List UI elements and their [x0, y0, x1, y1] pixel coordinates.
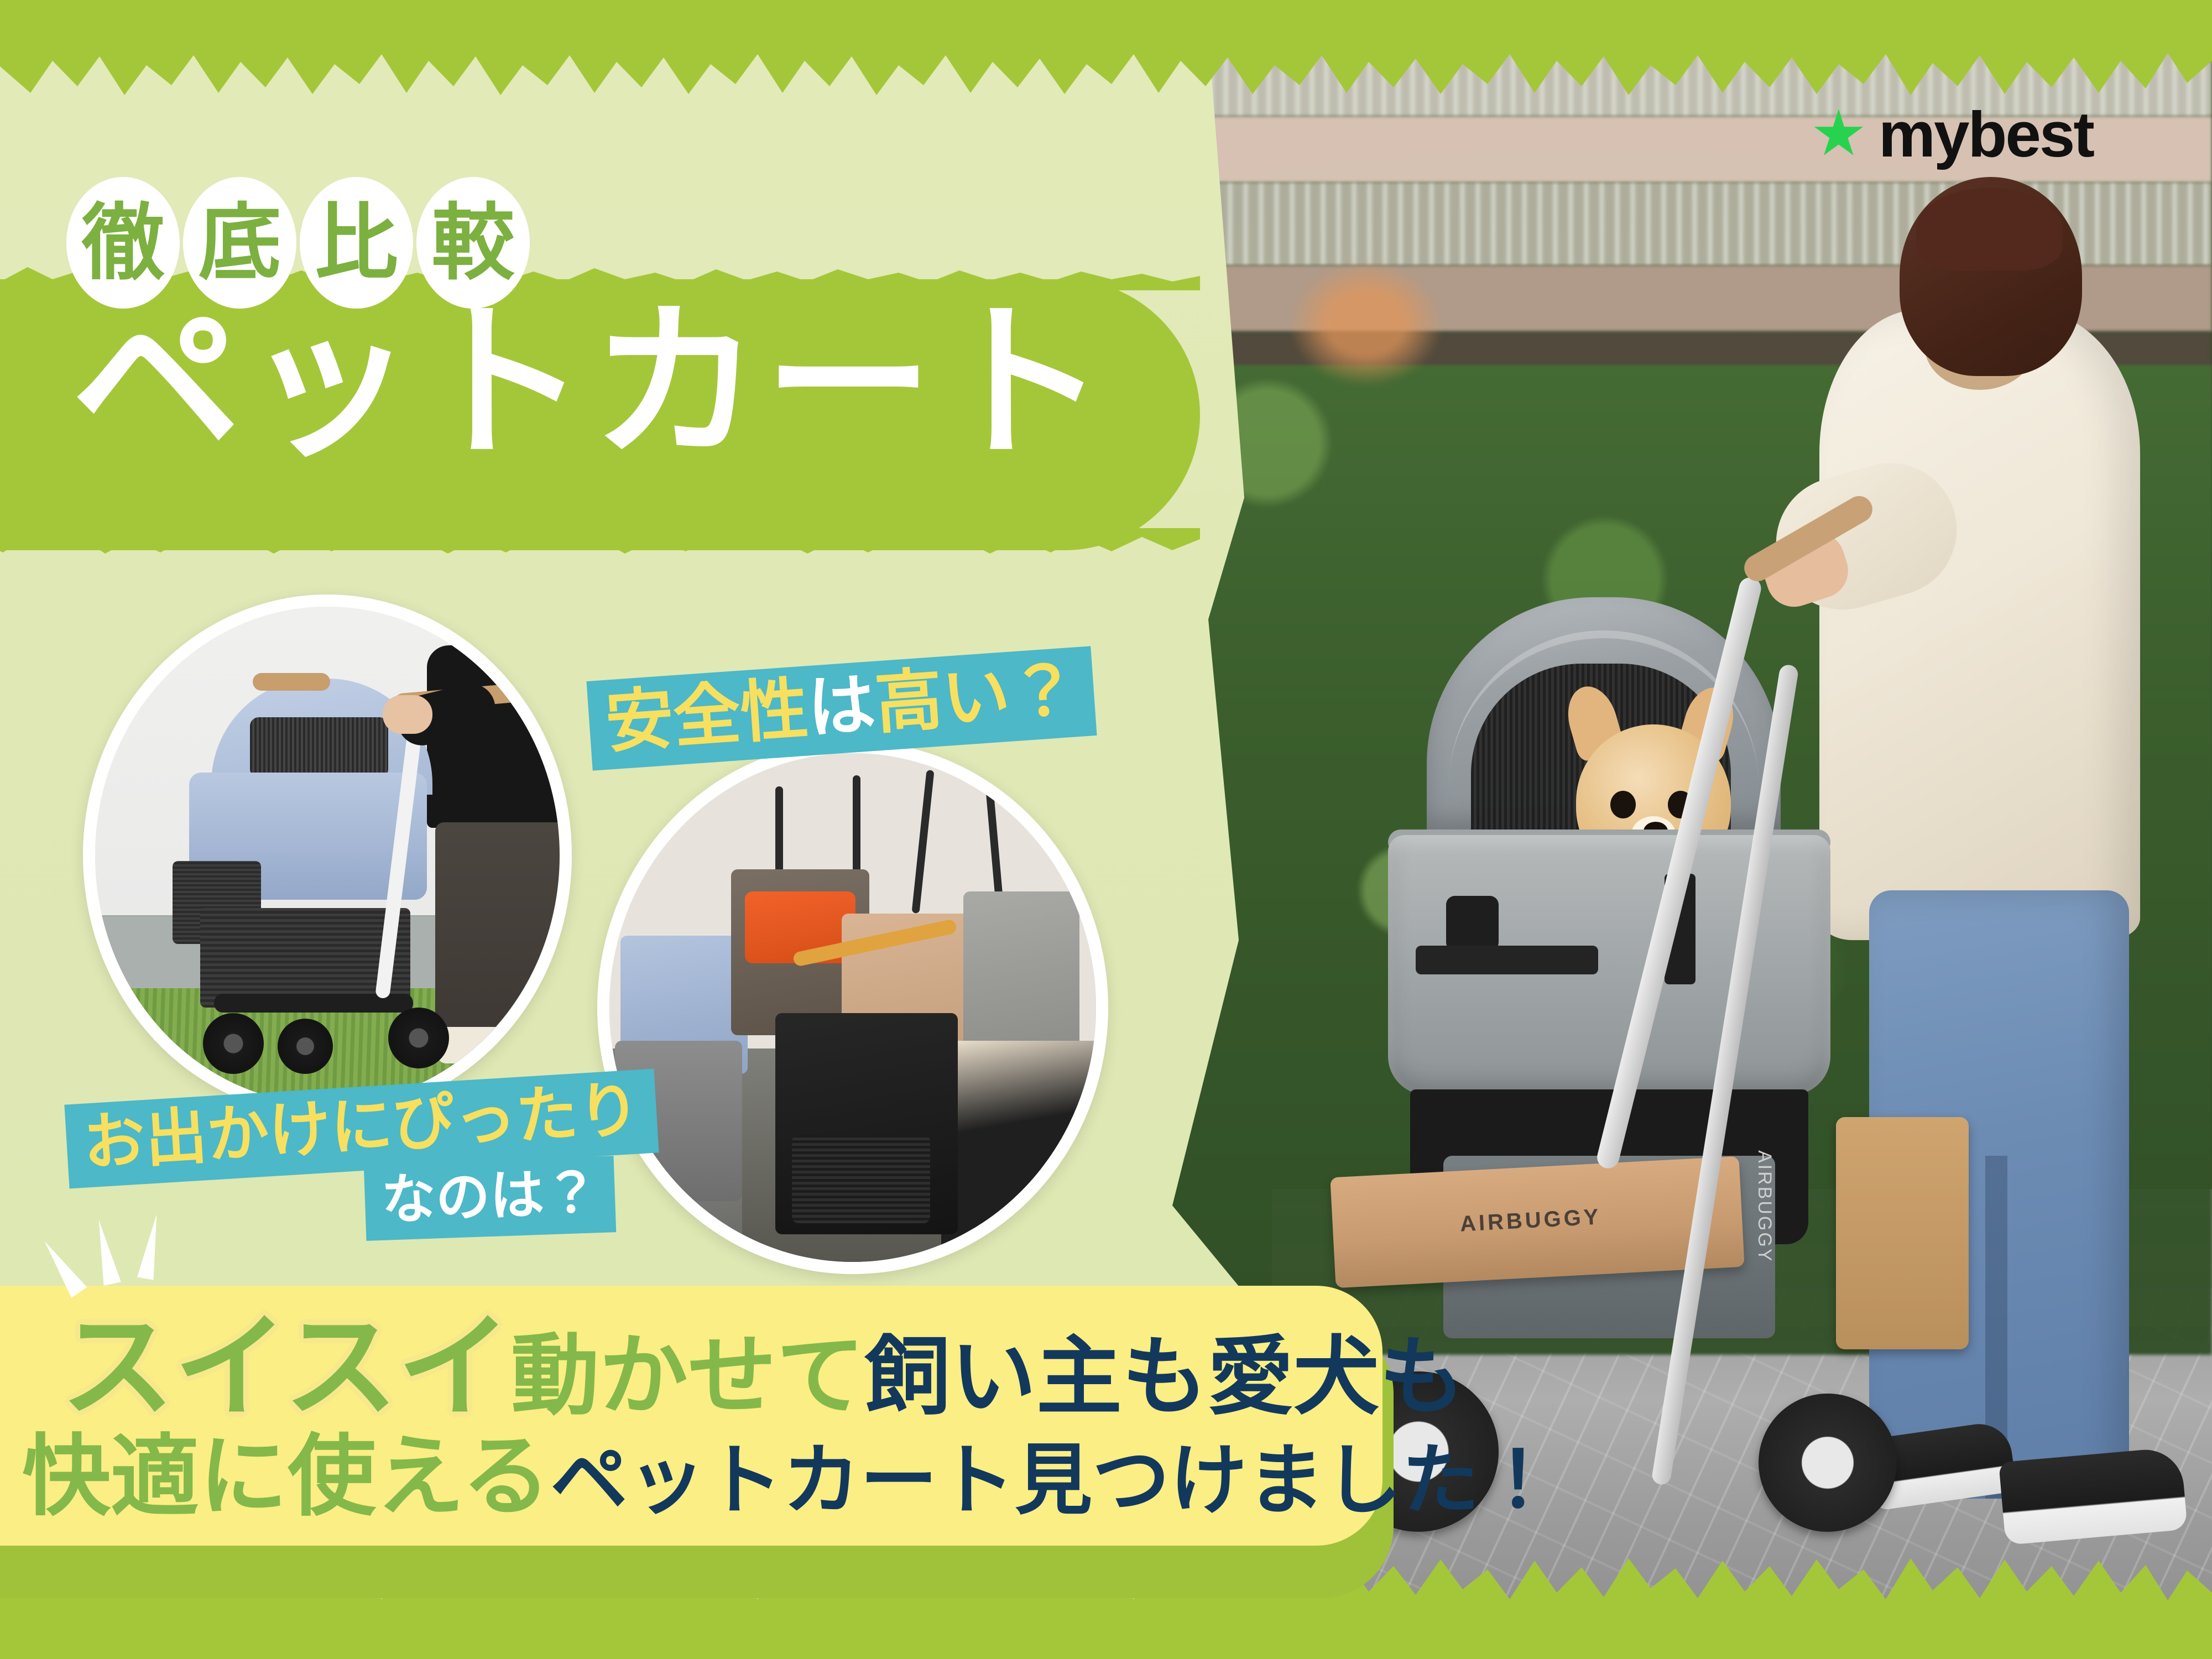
caption-ugokasete: 動かせて [511, 1326, 865, 1425]
blue-cart-wheel-3 [388, 1008, 449, 1068]
tester-pants [435, 822, 572, 1044]
photo-left-content [95, 607, 560, 1104]
blue-cart-wheel-2 [278, 1019, 333, 1074]
badge-nanoha: なのは？ [364, 1156, 617, 1241]
band-torn-edge-bottom [0, 528, 1200, 561]
lineup-cart-cream-trim [941, 1041, 1102, 1251]
blue-cart-wheel-1 [203, 1013, 264, 1074]
caption-mitsukemashita: ペットカート見つけました！ [550, 1437, 1557, 1524]
hair-bangs [1916, 188, 2063, 271]
badge-safety-text-3: 高い？ [873, 652, 1080, 741]
mybest-logo[interactable]: mybest [1813, 102, 2093, 166]
photo-right-content [609, 753, 1096, 1262]
circle-photo-left [83, 594, 572, 1117]
tester-hand [383, 695, 432, 734]
lineup-cart-black-mesh [792, 1135, 930, 1223]
caption-kainushi: 飼い主も愛犬も [865, 1329, 1465, 1425]
sneaker-right [1999, 1447, 2188, 1545]
mybest-wordmark: mybest [1879, 102, 2093, 166]
caption-suisui: スイスイ [61, 1304, 511, 1431]
thumbnail-canvas: AIRBUGGY AIRBUGGY mybest 徹 底 比 較 ペットカート [0, 0, 2212, 1659]
badge-safety-text-1: 安全性 [603, 671, 811, 760]
tan-tote-bag [1836, 1117, 1969, 1349]
badge-nanoha-text: なのは？ [380, 1162, 599, 1230]
blue-cart-top-grip [253, 673, 330, 691]
autumn-leaves [1288, 260, 1443, 387]
cart-strap-horizontal [1416, 946, 1598, 974]
badge-safety-text-2: は [805, 666, 878, 746]
circle-photo-right [597, 741, 1108, 1274]
dog-eye-left [1610, 791, 1636, 818]
star-icon [1813, 109, 1864, 160]
caption-line-1: スイスイ動かせて飼い主も愛犬も [61, 1311, 1465, 1424]
cart-wheel-rear [1759, 1394, 1897, 1532]
caption-kaiteki: 快適に使える [22, 1427, 550, 1526]
blue-cart-hood-mesh [250, 717, 388, 778]
cart-buckle [1446, 896, 1499, 951]
airbuggy-side-label: AIRBUGGY [1754, 1150, 1775, 1262]
page-title: ペットカート [72, 299, 1110, 467]
caption-line-2: 快適に使えるペットカート見つけました！ [22, 1432, 1557, 1521]
